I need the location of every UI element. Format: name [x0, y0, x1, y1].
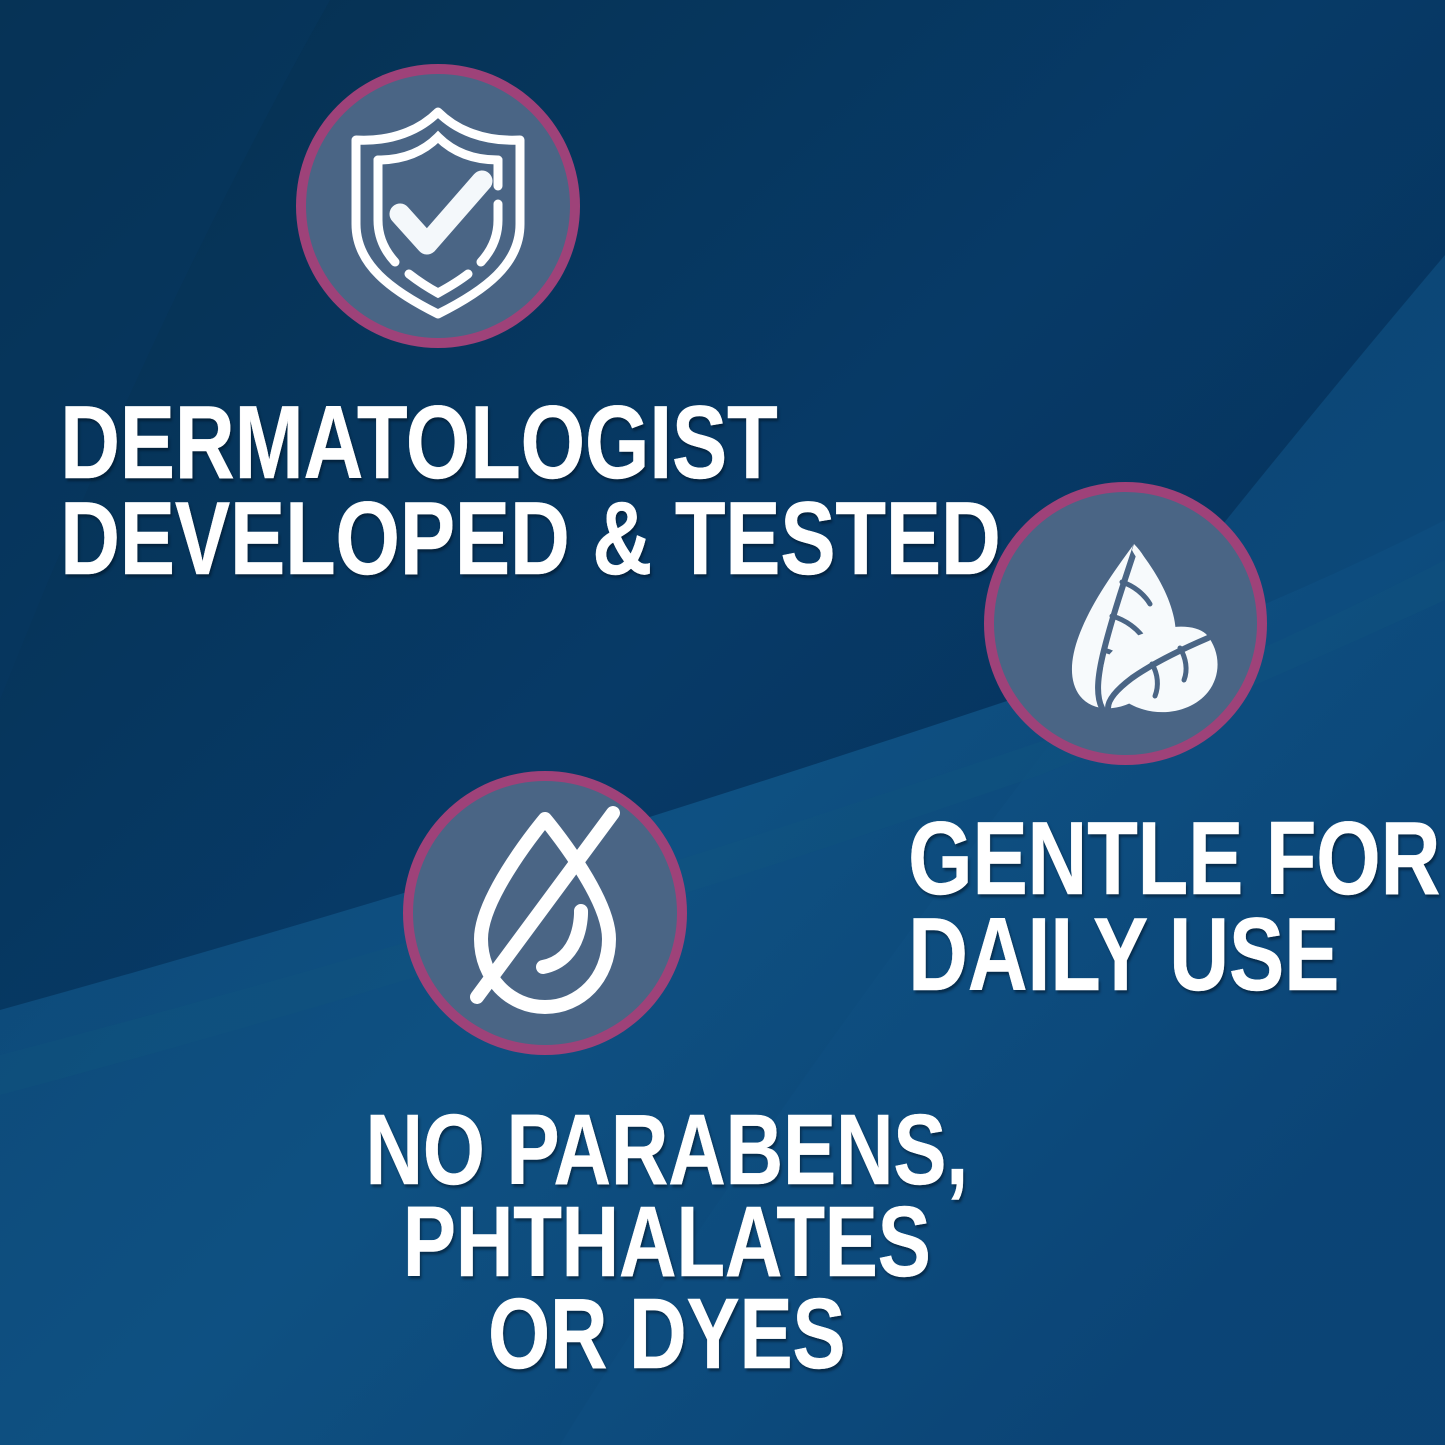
no-droplet-icon: [403, 771, 687, 1055]
caption-line: DERMATOLOGIST: [60, 396, 1001, 492]
caption-line: DAILY USE: [908, 908, 1440, 1004]
caption-line: OR DYES: [365, 1288, 968, 1380]
badge-gentle: [984, 482, 1267, 765]
badge-free-from: [403, 771, 687, 1055]
caption-line: NO PARABENS,: [365, 1104, 968, 1196]
shield-check-icon: [296, 64, 580, 348]
caption-line: DEVELOPED & TESTED: [60, 492, 1001, 588]
caption-free-from: NO PARABENS, PHTHALATES OR DYES: [290, 1104, 1043, 1380]
badge-dermatologist: [296, 64, 580, 348]
caption-line: PHTHALATES: [365, 1196, 968, 1288]
feather-icon: [984, 482, 1267, 765]
caption-line: GENTLE FOR: [908, 812, 1440, 908]
caption-gentle: GENTLE FOR DAILY USE: [908, 812, 1445, 1003]
product-benefits-graphic: DERMATOLOGIST DEVELOPED & TESTED: [0, 0, 1445, 1445]
